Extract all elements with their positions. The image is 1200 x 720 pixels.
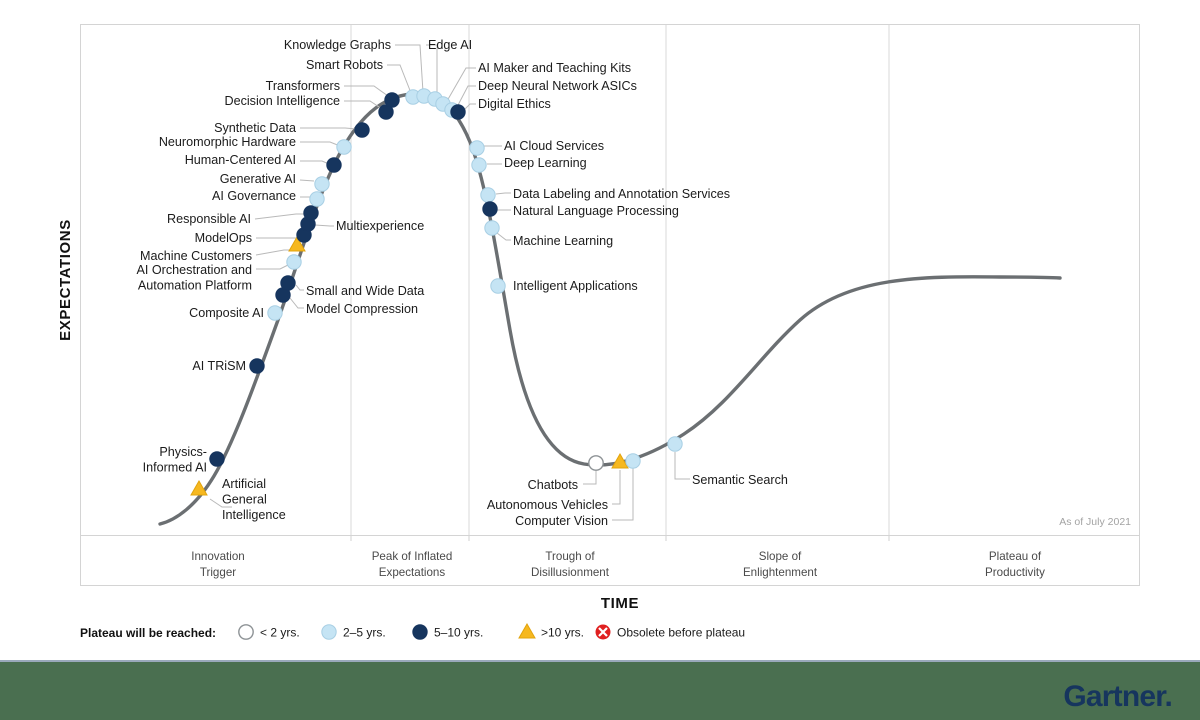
- data-point-marker-light-blue[interactable]: [626, 454, 640, 468]
- data-point-marker-light-blue[interactable]: [310, 192, 324, 206]
- data-point-marker-dark-blue[interactable]: [281, 276, 295, 290]
- data-point-label: Data Labeling and Annotation Services: [513, 187, 730, 201]
- data-point-marker-dark-blue[interactable]: [483, 202, 497, 216]
- data-point-marker-white[interactable]: [589, 456, 603, 470]
- data-point-label: Semantic Search: [692, 473, 788, 487]
- legend-marker-dark-blue-circle: [413, 625, 427, 639]
- data-point-label: Deep Learning: [504, 156, 587, 170]
- gartner-logo-text: Gartner: [1063, 680, 1164, 713]
- legend-item[interactable]: 5–10 yrs.: [413, 625, 484, 640]
- data-point-marker-light-blue[interactable]: [485, 221, 499, 235]
- data-point-marker-light-blue[interactable]: [668, 437, 682, 451]
- hype-cycle-chart: ArtificialGeneralIntelligencePhysics-Inf…: [0, 0, 1200, 720]
- hype-cycle-page: ArtificialGeneralIntelligencePhysics-Inf…: [0, 0, 1200, 720]
- legend-label: 2–5 yrs.: [343, 626, 386, 640]
- data-point-marker-dark-blue[interactable]: [451, 105, 465, 119]
- data-point-label: Transformers: [266, 79, 340, 93]
- legend-marker-white-circle: [239, 625, 253, 639]
- data-point-label: Computer Vision: [515, 514, 608, 528]
- data-point-label: Deep Neural Network ASICs: [478, 79, 637, 93]
- data-point-label: AI Governance: [212, 189, 296, 203]
- data-point-marker-light-blue[interactable]: [268, 306, 282, 320]
- data-point-label: Edge AI: [428, 38, 472, 52]
- data-point-label: Neuromorphic Hardware: [159, 135, 296, 149]
- legend-marker-light-blue-circle: [322, 625, 336, 639]
- data-point-marker-dark-blue[interactable]: [327, 158, 341, 172]
- legend: Plateau will be reached: < 2 yrs.2–5 yrs…: [80, 624, 745, 640]
- legend-label: 5–10 yrs.: [434, 626, 483, 640]
- data-point-label: AI Orchestration andAutomation Platform: [136, 263, 252, 292]
- gartner-logo-dot: .: [1164, 680, 1172, 713]
- y-axis-title: EXPECTATIONS: [57, 219, 74, 341]
- data-point-label: Responsible AI: [167, 212, 251, 226]
- data-point-label: Knowledge Graphs: [284, 38, 391, 52]
- data-point-label: Composite AI: [189, 306, 264, 320]
- data-point-marker-dark-blue[interactable]: [385, 93, 399, 107]
- data-point-label: Model Compression: [306, 302, 418, 316]
- data-point-label: AI Maker and Teaching Kits: [478, 61, 631, 75]
- data-point-label: Synthetic Data: [214, 121, 296, 135]
- as-of-date: As of July 2021: [1059, 516, 1131, 528]
- legend-marker-orange-triangle: [519, 624, 535, 638]
- data-point-label: Natural Language Processing: [513, 204, 679, 218]
- data-point-marker-dark-blue[interactable]: [250, 359, 264, 373]
- data-point-label: Small and Wide Data: [306, 284, 424, 298]
- legend-item[interactable]: < 2 yrs.: [239, 625, 300, 640]
- data-point-marker-light-blue[interactable]: [337, 140, 351, 154]
- data-point-label: Machine Learning: [513, 234, 613, 248]
- data-point-label: Machine Customers: [140, 249, 252, 263]
- legend-marker-obsolete-icon: [596, 625, 611, 640]
- data-point-marker-dark-blue[interactable]: [210, 452, 224, 466]
- data-point-label: Intelligent Applications: [513, 279, 638, 293]
- data-point-label: ModelOps: [195, 231, 252, 245]
- data-point-label: Digital Ethics: [478, 97, 551, 111]
- footer-bar: Gartner.: [0, 660, 1200, 720]
- data-point-marker-light-blue[interactable]: [287, 255, 301, 269]
- data-point-marker-light-blue[interactable]: [315, 177, 329, 191]
- data-point-label: Chatbots: [528, 478, 578, 492]
- legend-title: Plateau will be reached:: [80, 626, 216, 640]
- data-point-marker-light-blue[interactable]: [470, 141, 484, 155]
- data-point-marker-light-blue[interactable]: [472, 158, 486, 172]
- data-point-label: AI TRiSM: [192, 359, 246, 373]
- data-point-marker-dark-blue[interactable]: [355, 123, 369, 137]
- data-point-marker-dark-blue[interactable]: [304, 206, 318, 220]
- legend-item[interactable]: Obsolete before plateau: [596, 625, 746, 640]
- data-point-label: Decision Intelligence: [224, 94, 340, 108]
- legend-label: < 2 yrs.: [260, 626, 300, 640]
- data-point-marker-light-blue[interactable]: [481, 188, 495, 202]
- legend-label: Obsolete before plateau: [617, 626, 745, 640]
- data-point-label: Autonomous Vehicles: [487, 498, 608, 512]
- x-axis-title: TIME: [601, 595, 639, 612]
- data-point-label: Multiexperience: [336, 219, 424, 233]
- data-point-label: Generative AI: [220, 172, 296, 186]
- data-point-label: Smart Robots: [306, 58, 383, 72]
- legend-item[interactable]: 2–5 yrs.: [322, 625, 386, 640]
- gartner-logo: Gartner.: [1063, 680, 1172, 714]
- legend-item[interactable]: >10 yrs.: [519, 624, 584, 640]
- data-point-label: Human-Centered AI: [185, 153, 296, 167]
- data-point-marker-light-blue[interactable]: [491, 279, 505, 293]
- data-point-label: AI Cloud Services: [504, 139, 604, 153]
- legend-label: >10 yrs.: [541, 626, 584, 640]
